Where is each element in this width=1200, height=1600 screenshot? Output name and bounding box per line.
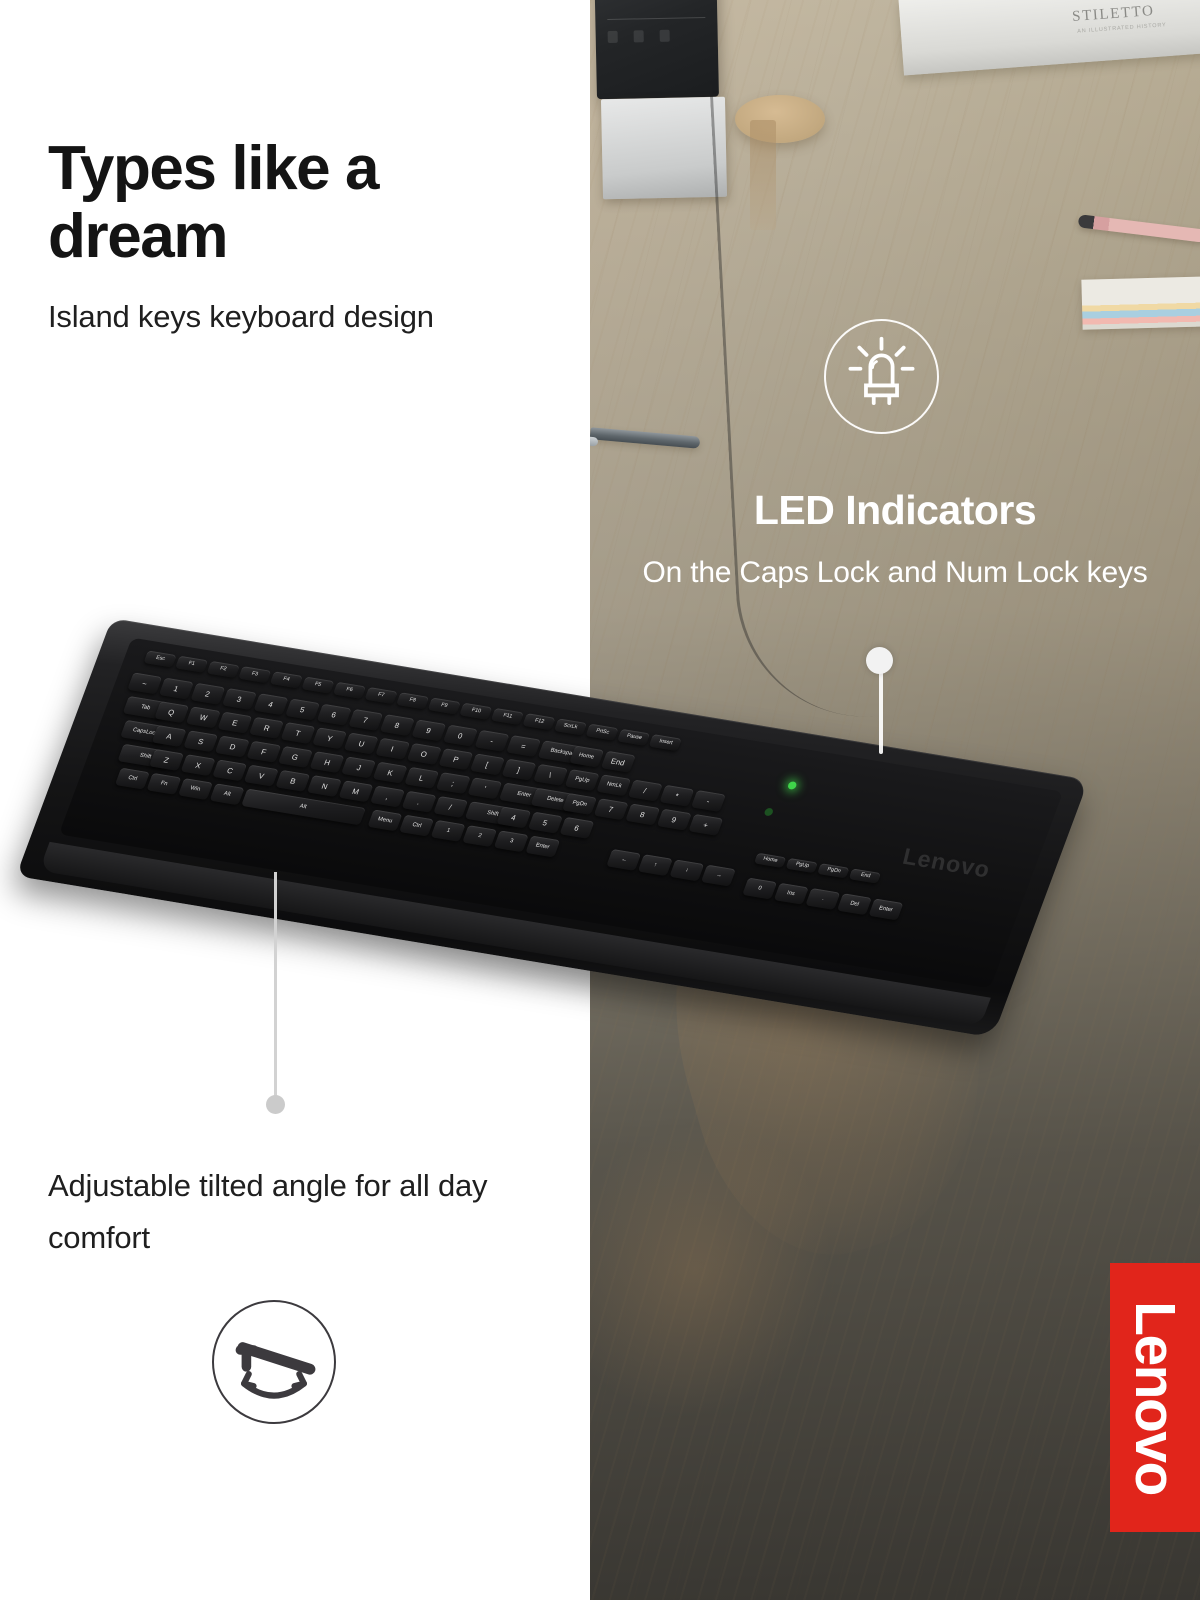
- keyboard-key: ←: [606, 849, 641, 871]
- keyboard-key-label: ,: [385, 792, 390, 801]
- keyboard-key: I: [375, 738, 410, 760]
- keyboard-key-label: *: [674, 791, 680, 800]
- keyboard-key: 7: [594, 798, 629, 820]
- keyboard-key-label: F8: [408, 696, 417, 705]
- keyboard-key-label: Z: [163, 755, 171, 764]
- keyboard-key-label: 2: [477, 832, 483, 841]
- keyboard-key-label: 1: [173, 684, 180, 693]
- keyboard-key-label: F5: [313, 681, 322, 690]
- keyboard-key: Ctrl: [115, 768, 150, 790]
- keyboard-key-label: ': [483, 784, 487, 792]
- keyboard-key-label: 8: [639, 810, 646, 819]
- keyboard-key-label: 7: [608, 805, 615, 814]
- keyboard-key: PrtSc: [585, 724, 618, 741]
- keyboard-key-label: -: [706, 797, 712, 806]
- keyboard-key-label: ~: [141, 679, 148, 688]
- keyboard-key: ]: [502, 759, 537, 781]
- keyboard-key: F8: [396, 692, 429, 709]
- page-subtitle: Island keys keyboard design: [48, 292, 508, 342]
- keyboard-key-label: 2: [204, 689, 211, 698]
- keyboard-key: ScrLk: [554, 718, 587, 735]
- keyboard-key: ,: [370, 786, 405, 808]
- keyboard-key-label: PrtSc: [594, 727, 610, 737]
- keyboard-key: ': [467, 777, 502, 799]
- keyboard-key: V: [244, 765, 279, 787]
- keyboard-key: F4: [270, 671, 303, 688]
- keyboard-key-label: Win: [189, 784, 202, 794]
- keyboard-key-label: B: [289, 776, 297, 785]
- keyboard-key-label: 4: [510, 813, 517, 822]
- keyboard-key: F7: [364, 687, 397, 704]
- keyboard-key: F6: [333, 682, 366, 699]
- keyboard-key: G: [278, 746, 313, 768]
- keyboard-key: U: [344, 733, 379, 755]
- keyboard-key: F10: [459, 703, 492, 720]
- keyboard-key-label: F6: [345, 686, 354, 695]
- keyboard-key: W: [186, 706, 221, 728]
- led-callout-dot: [866, 647, 893, 674]
- keyboard-key: 1: [431, 820, 466, 842]
- keyboard-key: *: [659, 785, 694, 807]
- keyboard-key-label: F11: [502, 712, 514, 722]
- keyboard-key: ↑: [638, 854, 673, 876]
- keyboard-key-label: .: [417, 797, 422, 806]
- keyboard-key: Enter: [868, 898, 903, 920]
- tablet-device: 10:10 AM 4/2/2018: [593, 0, 719, 99]
- keyboard-key-label: E: [231, 718, 239, 727]
- tablet-app-icon: [634, 30, 644, 42]
- keyboard-key-label: Del: [849, 899, 860, 909]
- keyboard-key-label: Alt: [222, 790, 232, 799]
- keyboard-key: T: [281, 722, 316, 744]
- keyboard-key-label: Enter: [878, 904, 894, 914]
- keyboard-key-label: L: [418, 773, 425, 782]
- keyboard-key-label: P: [452, 755, 460, 764]
- keyboard-key: PgDn: [562, 793, 597, 815]
- keyboard-key: C: [212, 759, 247, 781]
- keyboard-key-label: 3: [508, 837, 514, 846]
- keyboard-key-label: Enter: [535, 841, 551, 851]
- keyboard-key-label: N: [320, 782, 328, 791]
- keyboard-key: 6: [317, 704, 352, 726]
- keyboard-key-label: F7: [376, 691, 385, 700]
- keyboard-key: PgUp: [785, 858, 818, 873]
- keyboard-key-label: ]: [516, 765, 521, 774]
- keyboard-key-label: 1: [445, 827, 451, 836]
- keyboard-key: /: [628, 780, 663, 802]
- keyboard-key-label: End: [610, 757, 626, 767]
- keyboard-key: +: [688, 814, 723, 836]
- keyboard-key: 4: [254, 693, 289, 715]
- keyboard-key: 5: [528, 812, 563, 834]
- keyboard-key: L: [404, 767, 439, 789]
- keyboard-key: F2: [207, 661, 240, 678]
- book-bottom-cover: [898, 0, 1200, 76]
- keyboard-key: 9: [657, 809, 692, 831]
- keyboard-key: F: [246, 741, 281, 763]
- keyboard-key-label: Tab: [140, 703, 152, 713]
- keyboard-key-label: Q: [167, 708, 176, 717]
- keyboard-key-label: U: [357, 739, 365, 748]
- keyboard-key: End: [849, 868, 882, 883]
- keyboard-key: .: [805, 888, 840, 910]
- tablet-app-icons: [608, 29, 706, 53]
- keyboard-key-label: F4: [282, 675, 291, 684]
- keyboard-key-label: Fn: [159, 779, 169, 788]
- keyboard-key-label: 5: [299, 705, 306, 714]
- keyboard-key: 3: [222, 688, 257, 710]
- keyboard-key-label: ScrLk: [562, 722, 578, 732]
- keyboard-key-label: ↓: [684, 866, 690, 875]
- keyboard-key: R: [249, 717, 284, 739]
- keyboard-key: Q: [154, 701, 189, 723]
- keyboard-key: X: [181, 754, 216, 776]
- keyboard-key: Insert: [649, 734, 682, 751]
- keyboard-key: .: [402, 791, 437, 813]
- keyboard-key: /: [433, 796, 468, 818]
- keyboard-key: [: [470, 753, 505, 775]
- keyboard-key-label: O: [420, 749, 429, 758]
- keyboard-key: 5: [285, 699, 320, 721]
- keyboard-key: 0: [443, 725, 478, 747]
- keyboard-key-label: R: [262, 723, 270, 732]
- keyboard-key-label: 6: [573, 823, 580, 832]
- keyboard-key-label: D: [228, 742, 236, 751]
- keyboard-key-label: I: [390, 744, 395, 753]
- lenovo-wordmark: Lenovo: [1122, 1301, 1188, 1495]
- keyboard-key-label: PgUp: [794, 860, 810, 870]
- keyboard-key: P: [438, 748, 473, 770]
- keyboard-key: 8: [380, 714, 415, 736]
- keyboard-key-label: T: [294, 729, 302, 738]
- keyboard-key-label: -: [489, 737, 495, 746]
- keyboard-key: F12: [522, 713, 555, 730]
- keyboard-key-label: Enter: [516, 790, 532, 800]
- tablet-divider: [607, 17, 705, 20]
- keyboard-key: 7: [348, 709, 383, 731]
- keyboard-key: O: [407, 743, 442, 765]
- keyboard-key-label: Insert: [657, 737, 673, 747]
- led-callout-line: [879, 668, 883, 754]
- keyboard-key-label: H: [323, 758, 331, 767]
- keyboard-key: =: [506, 735, 541, 757]
- keyboard-key-label: ↑: [652, 861, 658, 870]
- keyboard-key: E: [217, 712, 252, 734]
- keyboard-key-label: +: [702, 820, 709, 829]
- keyboard-key-label: F: [260, 747, 268, 756]
- keyboard-key-label: 3: [236, 695, 243, 704]
- keyboard-key-label: ←: [619, 855, 628, 864]
- keyboard-key-label: S: [197, 737, 205, 746]
- led-indicators-caption: On the Caps Lock and Num Lock keys: [600, 553, 1190, 593]
- keyboard-key: Ctrl: [399, 815, 434, 837]
- keyboard-key: 0: [742, 878, 777, 900]
- keyboard-key-label: PgDn: [571, 799, 588, 809]
- keyboard-key-label: Ctrl: [126, 774, 138, 784]
- keyboard-key-label: J: [355, 763, 362, 772]
- keyboard-key-label: →: [714, 871, 723, 880]
- keyboard-key-label: A: [165, 732, 173, 741]
- keyboard-key: S: [183, 730, 218, 752]
- keyboard-key-label: 9: [425, 726, 432, 735]
- lenovo-logo: Lenovo: [1110, 1263, 1200, 1532]
- keyboard-key: Z: [149, 749, 184, 771]
- keyboard-key-label: F2: [219, 665, 228, 674]
- page-title: Types like a dream: [48, 135, 548, 271]
- keyboard-key-label: W: [198, 713, 208, 722]
- keyboard-key: H: [309, 751, 344, 773]
- keyboard-key: A: [152, 725, 187, 747]
- keyboard-key-label: C: [225, 766, 233, 775]
- tilt-callout-line: [274, 872, 277, 1104]
- keyboard-key-label: 8: [394, 721, 401, 730]
- sticky-note-stack: [1081, 276, 1200, 329]
- keyboard-key: -: [691, 790, 726, 812]
- keyboard-key: N: [307, 775, 342, 797]
- keyboard-key: 1: [159, 678, 194, 700]
- keyboard-key-label: PgUp: [574, 775, 591, 785]
- keyboard-key: PgUp: [565, 769, 600, 791]
- keyboard-key-label: Home: [762, 855, 779, 865]
- keyboard-key-label: F3: [250, 670, 259, 679]
- keyboard-key: 6: [559, 817, 594, 839]
- keyboard-key: M: [338, 780, 373, 802]
- keyboard-key-label: /: [643, 786, 648, 795]
- keyboard-key: Home: [569, 746, 604, 768]
- keyboard-key: Fn: [146, 773, 181, 795]
- keyboard-key: B: [275, 770, 310, 792]
- keyboard-key: Del: [837, 893, 872, 915]
- keyboard-key-label: Ins: [786, 889, 797, 898]
- keyboard-key-label: F1: [187, 660, 196, 669]
- keyboard-key-label: PgDn: [825, 866, 841, 876]
- keyboard-key: F1: [175, 656, 208, 673]
- keyboard-key-label: =: [520, 742, 527, 751]
- keyboard-key-label: End: [859, 871, 871, 881]
- keyboard-key-label: F10: [470, 706, 482, 716]
- keyboard-key: Home: [754, 853, 787, 868]
- keyboard-key-label: F9: [440, 701, 449, 710]
- keyboard-key: ~: [127, 672, 162, 694]
- keyboard-key: End: [601, 751, 636, 773]
- keyboard-key: F11: [491, 708, 524, 725]
- keyboard-key-label: ;: [451, 779, 456, 788]
- keyboard-key: Alt: [210, 783, 245, 805]
- keyboard-key-label: /: [448, 803, 453, 812]
- keyboard-key: 4: [496, 806, 531, 828]
- keyboard-key: 2: [190, 683, 225, 705]
- keyboard-key: F9: [428, 697, 461, 714]
- keyboard-key-label: K: [386, 768, 394, 777]
- keyboard-key: →: [701, 865, 736, 887]
- tilt-callout-dot: [266, 1095, 285, 1114]
- keyboard-key: 3: [494, 830, 529, 852]
- keyboard-key: Pause: [617, 729, 650, 746]
- keyboard-key-label: 7: [362, 715, 369, 724]
- keyboard-key-label: Alt: [299, 802, 309, 811]
- keyboard-key-label: 0: [757, 884, 763, 893]
- led-beacon-icon: [824, 319, 939, 434]
- keyboard-key-label: 9: [671, 815, 678, 824]
- keyboard-key: Y: [312, 727, 347, 749]
- adjustable-tilt-angle-icon: [212, 1300, 336, 1424]
- keyboard-key-label: Ctrl: [411, 821, 423, 831]
- keyboard-key-label: .: [821, 895, 826, 903]
- keyboard-key-label: Esc: [154, 654, 166, 664]
- tablet-stand: [601, 97, 727, 200]
- keyboard-key-label: Y: [326, 734, 334, 743]
- keyboard-key-label: G: [291, 752, 300, 761]
- keyboard-key: PgDn: [817, 863, 850, 878]
- tablet-app-icon: [660, 30, 670, 42]
- tilt-angle-copy: Adjustable tilted angle for all day comf…: [48, 1160, 568, 1264]
- keyboard-key: Ins: [774, 883, 809, 905]
- keyboard-key-label: F12: [533, 717, 545, 727]
- keyboard-key-label: Delete: [546, 795, 565, 806]
- keyboard-key: 8: [625, 803, 660, 825]
- keyboard-key-label: 6: [331, 710, 338, 719]
- keyboard-key-label: 5: [542, 818, 549, 827]
- keyboard-key: -: [475, 730, 510, 752]
- keyboard-key-label: NmLk: [605, 780, 623, 791]
- keyboard-key-label: 4: [267, 700, 274, 709]
- tablet-app-icon: [608, 31, 618, 43]
- keyboard-key-label: M: [351, 787, 360, 796]
- keyboard-key: \: [533, 764, 568, 786]
- keyboard-key-label: V: [257, 771, 265, 780]
- keyboard-key: D: [215, 736, 250, 758]
- keyboard-product-image: EscF1F2F3F4F5F6F7F8F9F10F11F12ScrLkPrtSc…: [0, 560, 1120, 1100]
- keyboard-key-label: Menu: [376, 815, 393, 825]
- keyboard-key-label: \: [548, 771, 553, 780]
- keyboard-key: NmLk: [596, 774, 631, 796]
- keyboard-key-label: [: [485, 760, 490, 769]
- keyboard-key-label: Pause: [625, 732, 643, 743]
- led-indicators-title: LED Indicators: [600, 487, 1190, 534]
- keyboard-key-label: 0: [457, 731, 464, 740]
- keyboard-key: F5: [301, 677, 334, 694]
- keyboard-key: F3: [238, 666, 271, 683]
- keyboard-key: 2: [462, 825, 497, 847]
- keyboard-key: K: [373, 762, 408, 784]
- keyboard-key: ↓: [669, 859, 704, 881]
- keyboard-key: Menu: [367, 809, 402, 831]
- keyboard-key-label: Home: [578, 751, 596, 762]
- product-marketing-banner: 10:10 AM 4/2/2018 THAT SMALL THAT JUSTIC…: [0, 0, 1200, 1600]
- keyboard-key: Enter: [525, 836, 560, 858]
- keyboard-key: Esc: [143, 650, 176, 667]
- keyboard-key: ;: [436, 772, 471, 794]
- keyboard-key-label: X: [194, 761, 202, 770]
- keyboard-key: J: [341, 756, 376, 778]
- keyboard-key: 9: [411, 719, 446, 741]
- keyboard-key: Win: [178, 778, 213, 800]
